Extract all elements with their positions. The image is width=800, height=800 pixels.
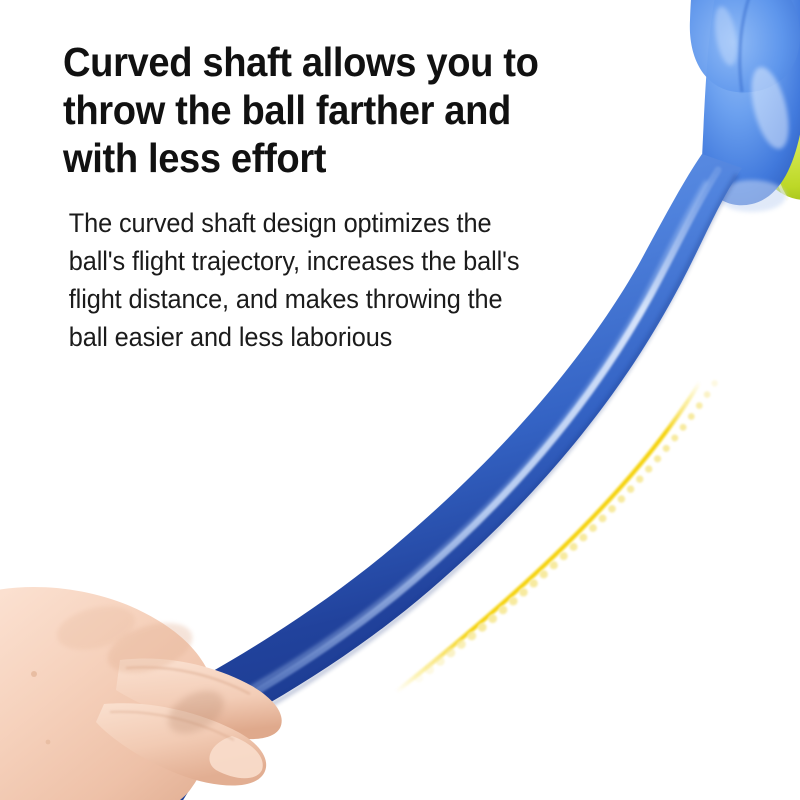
trajectory-dot xyxy=(560,552,568,560)
trajectory-dot xyxy=(618,495,626,503)
skin-mark-a xyxy=(31,671,37,677)
trajectory-dot xyxy=(425,665,434,674)
trajectory-dot xyxy=(599,515,607,523)
trajectory-dot xyxy=(627,485,634,492)
hand-gripping-handle xyxy=(0,587,282,800)
text-block: Curved shaft allows you to throw the bal… xyxy=(63,38,683,356)
product-feature-banner: Curved shaft allows you to throw the bal… xyxy=(0,0,800,800)
trajectory-dot xyxy=(446,648,455,657)
trajectory-dot xyxy=(680,424,687,431)
description-paragraph: The curved shaft design optimizes the ba… xyxy=(63,182,655,356)
trajectory-dot xyxy=(579,533,587,541)
trajectory-dot xyxy=(519,588,528,597)
trajectory-dot xyxy=(550,561,558,569)
trajectory-dot xyxy=(589,524,597,532)
trajectory-dot xyxy=(704,391,711,398)
trajectory-dot xyxy=(570,543,578,551)
page-title: Curved shaft allows you to throw the bal… xyxy=(63,38,640,182)
trajectory-dot xyxy=(671,434,678,441)
trajectory-dot xyxy=(435,657,444,666)
trajectory-dot xyxy=(636,475,643,482)
trajectory-dot xyxy=(457,640,466,649)
trajectory-dot xyxy=(663,445,670,452)
trajectory-dot xyxy=(608,505,616,513)
trajectory-dot xyxy=(467,631,476,640)
trajectory-dot xyxy=(696,402,703,409)
skin-mark-b xyxy=(46,740,51,745)
trajectory-dot xyxy=(414,673,424,683)
trajectory-dot xyxy=(529,579,537,587)
trajectory-dot xyxy=(654,455,661,462)
trajectory-dot xyxy=(688,413,695,420)
trajectory-dot xyxy=(488,614,497,623)
trajectory-dot xyxy=(711,380,718,387)
trajectory-dot xyxy=(478,623,487,632)
trajectory-dot xyxy=(540,570,548,578)
trajectory-dot xyxy=(509,597,518,606)
trajectory-dot xyxy=(499,606,508,615)
trajectory-dot xyxy=(645,465,652,472)
